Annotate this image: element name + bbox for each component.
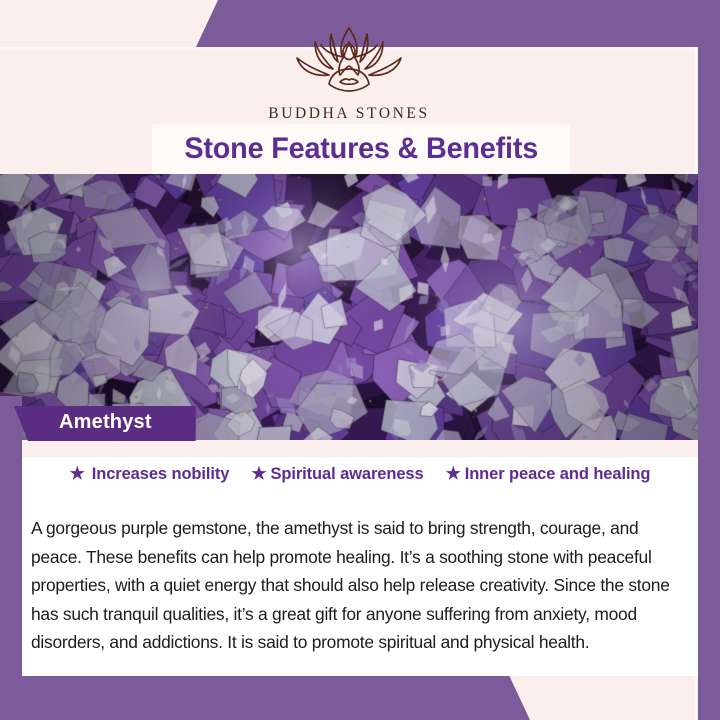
frame-left-bar [0,396,22,720]
frame-right-bar [698,0,720,720]
star-icon: ★ [251,465,266,482]
benefit-label: Inner peace and healing [465,465,651,484]
star-icon: ★ [446,465,461,482]
brand-block: BUDDHA STONES [0,22,698,123]
content-card: ★ Increases nobility ★ Spiritual awarene… [22,441,698,676]
benefit-item: ★ Inner peace and healing [446,465,651,484]
star-icon: ★ [70,465,85,482]
brand-name: BUDDHA STONES [0,105,698,123]
stone-name-label: Amethyst [14,411,196,436]
poster-canvas: BUDDHA STONES Stone Features & Benefits … [0,0,720,720]
benefit-label: Increases nobility [92,465,230,484]
benefit-item: ★ Spiritual awareness [251,465,423,484]
benefit-item: ★ Increases nobility [70,465,230,484]
amethyst-hero-image [0,174,720,440]
stone-description: A gorgeous purple gemstone, the amethyst… [31,514,691,657]
title-panel: Stone Features & Benefits [152,124,570,174]
stone-name-tab: Amethyst [14,406,196,441]
amethyst-crystal-render [0,174,720,440]
card-top-stripe [22,441,698,457]
benefits-row: ★ Increases nobility ★ Spiritual awarene… [22,465,698,484]
benefit-label: Spiritual awareness [270,465,423,484]
lotus-meditation-icon [281,22,417,96]
page-title: Stone Features & Benefits [184,132,538,166]
